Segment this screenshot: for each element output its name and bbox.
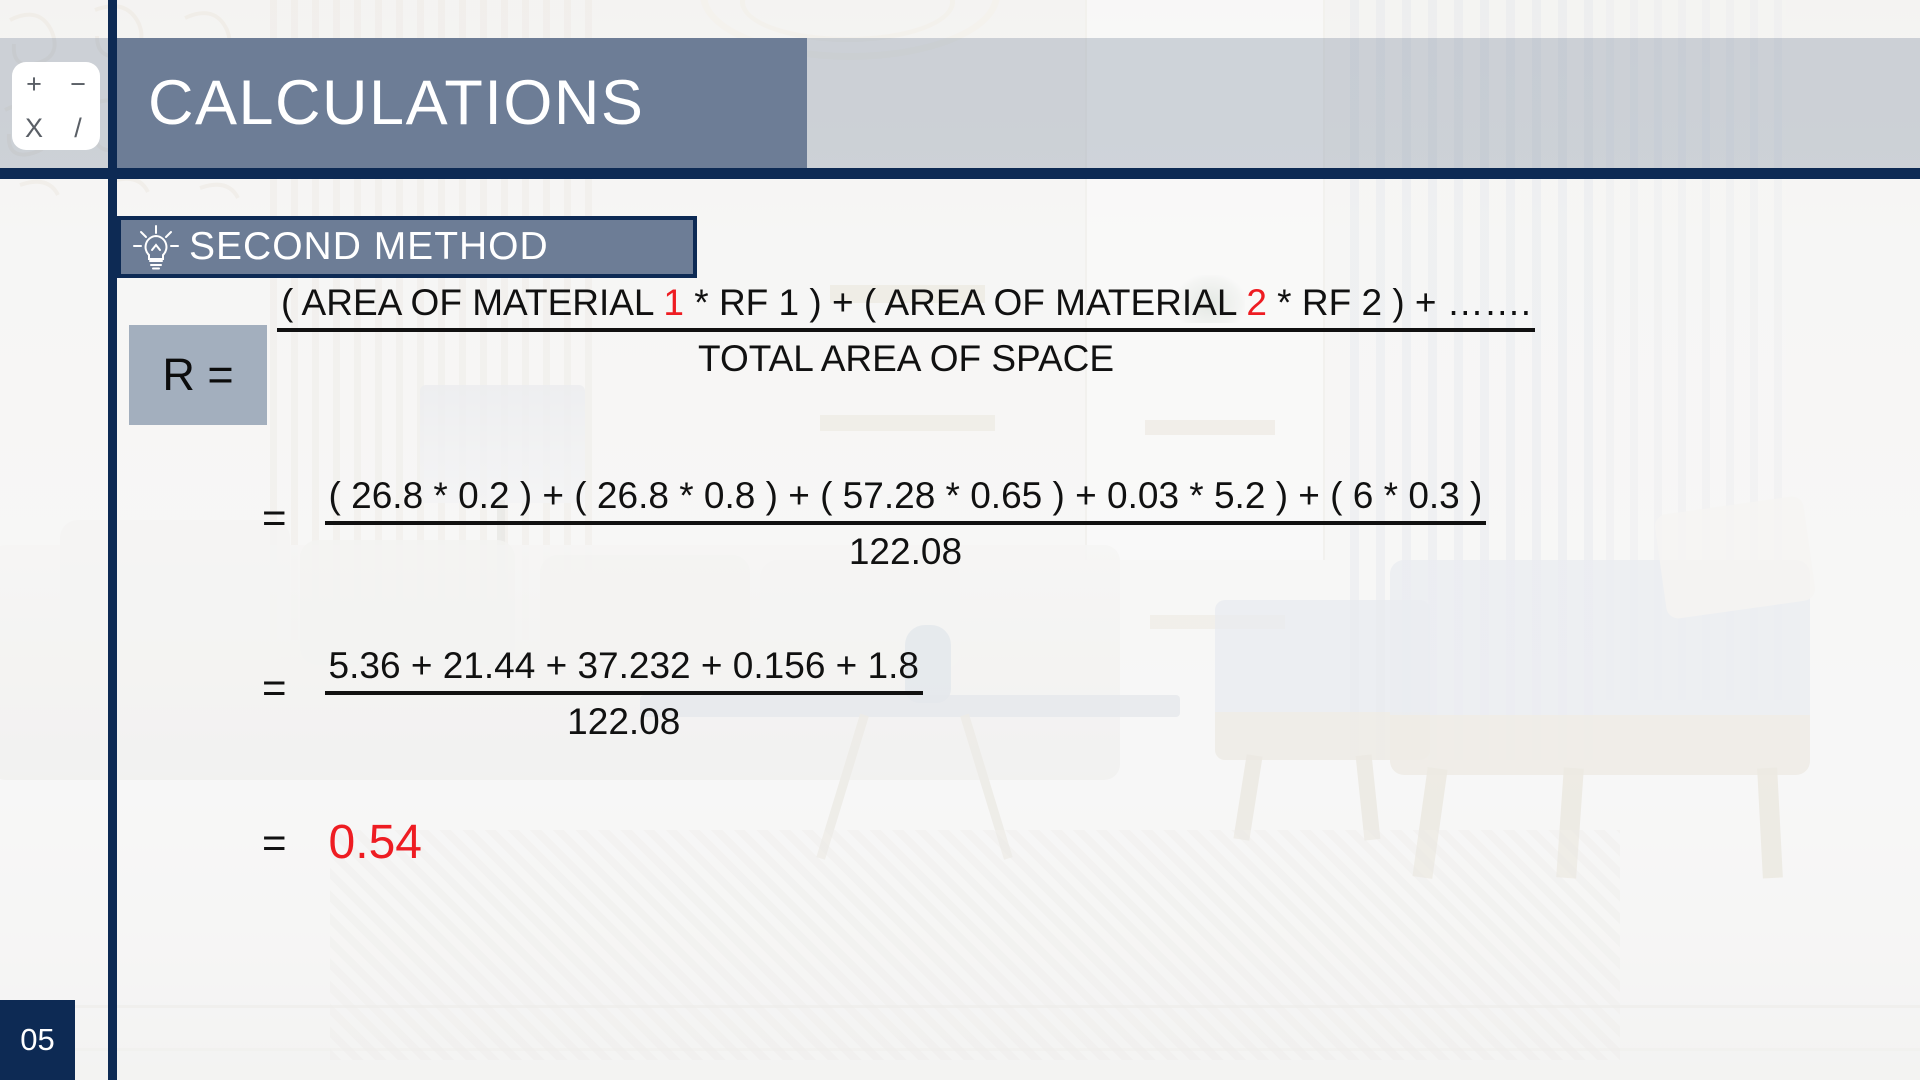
page-number: 05 (0, 1000, 75, 1080)
numerator-seg-2: * RF 1 ) + ( AREA OF MATERIAL (684, 282, 1246, 323)
variable-box: R = (129, 325, 267, 425)
section-label: SECOND METHOD (189, 225, 549, 269)
calculator-divide-symbol: / (74, 115, 82, 142)
equals-sign: = (262, 822, 287, 864)
calculator-icon: + − X / (12, 62, 100, 150)
numerator-seg-material-1: 1 (663, 282, 684, 323)
fraction-products: 5.36 + 21.44 + 37.232 + 0.156 + 1.8 122.… (325, 645, 923, 743)
fraction-numerator: ( 26.8 * 0.2 ) + ( 26.8 * 0.8 ) + ( 57.2… (325, 475, 1487, 521)
lightbulb-icon (129, 224, 183, 270)
equals-sign: = (262, 475, 287, 539)
fraction-substitution: ( 26.8 * 0.2 ) + ( 26.8 * 0.8 ) + ( 57.2… (325, 475, 1487, 573)
calculator-plus-symbol: + (26, 71, 42, 98)
calculator-multiply-symbol: X (25, 115, 43, 142)
section-banner: SECOND METHOD (117, 216, 697, 278)
fraction-denominator: 122.08 (325, 695, 923, 743)
fraction-denominator: TOTAL AREA OF SPACE (277, 332, 1535, 380)
numerator-seg-1: ( AREA OF MATERIAL (281, 282, 663, 323)
formula-line-result: = 0.54 (262, 815, 422, 870)
fraction-symbolic: ( AREA OF MATERIAL 1 * RF 1 ) + ( AREA O… (277, 282, 1535, 380)
numerator-seg-material-2: 2 (1246, 282, 1267, 323)
fraction-denominator: 122.08 (325, 525, 1487, 573)
result-value: 0.54 (329, 815, 422, 870)
formula-block: R = ( AREA OF MATERIAL 1 * RF 1 ) + ( AR… (117, 300, 1920, 960)
numerator-seg-3: * RF 2 ) + ……. (1267, 282, 1531, 323)
horizontal-accent-line (0, 168, 1920, 179)
page-title: CALCULATIONS (148, 48, 808, 158)
fraction-numerator: ( AREA OF MATERIAL 1 * RF 1 ) + ( AREA O… (277, 282, 1535, 328)
formula-line-products: = 5.36 + 21.44 + 37.232 + 0.156 + 1.8 12… (262, 645, 923, 743)
formula-line-symbolic: ( AREA OF MATERIAL 1 * RF 1 ) + ( AREA O… (277, 282, 1535, 380)
slide-canvas: + − X / CALCULATIONS (0, 0, 1920, 1080)
calculator-minus-symbol: − (70, 71, 86, 98)
fraction-numerator: 5.36 + 21.44 + 37.232 + 0.156 + 1.8 (325, 645, 923, 691)
equals-sign: = (262, 645, 287, 709)
formula-line-substitution: = ( 26.8 * 0.2 ) + ( 26.8 * 0.8 ) + ( 57… (262, 475, 1486, 573)
vertical-accent-line (108, 0, 117, 1080)
